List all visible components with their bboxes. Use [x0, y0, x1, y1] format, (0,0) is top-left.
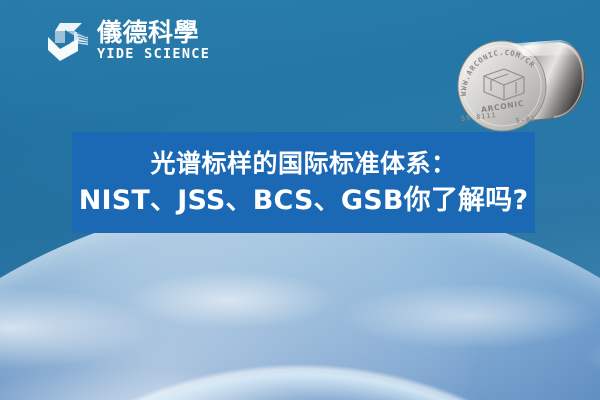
- brand-logo-text: 儀德科學 YIDE SCIENCE: [97, 20, 210, 63]
- headline-banner: 光谱标样的国际标准体系： NIST、JSS、BCS、GSB你了解吗?: [72, 132, 535, 233]
- poster-root: WWW.ARCONIC.COM/CRMS ARCONIC SS 8111 5-0…: [0, 0, 600, 400]
- yide-arrow-cube-logo-icon: [44, 17, 90, 65]
- brand-logo[interactable]: 儀德科學 YIDE SCIENCE: [44, 17, 210, 65]
- headline-line-2: NIST、JSS、BCS、GSB你了解吗?: [79, 187, 529, 214]
- headline-line-1: 光谱标样的国际标准体系：: [150, 151, 456, 176]
- brand-name-en: YIDE SCIENCE: [97, 48, 210, 62]
- brand-name-cn: 儀德科學: [97, 20, 210, 45]
- disc-code-right-engraving: 5-03: [515, 115, 536, 125]
